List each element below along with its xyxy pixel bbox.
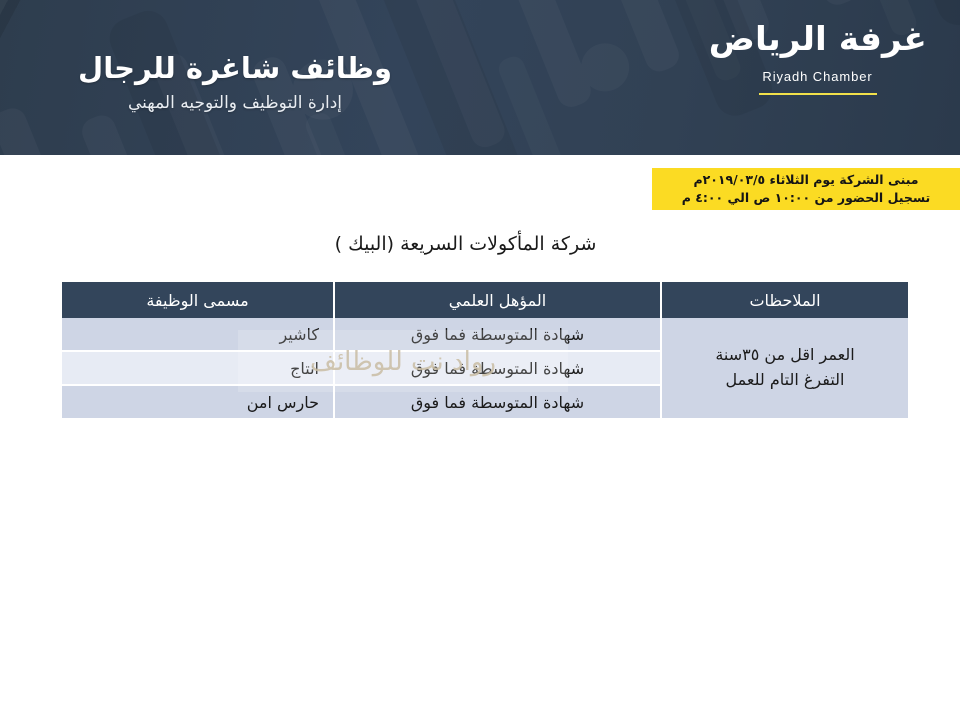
notes-line-age: العمر اقل من ٣٥سنة (662, 343, 908, 368)
column-header-notes: الملاحظات (660, 282, 908, 318)
banner-text-block: وظائف شاغرة للرجال إدارة التوظيف والتوجي… (0, 0, 470, 155)
job-title-cell: كاشير (62, 318, 333, 352)
job-title-cell: انتاج (62, 352, 333, 386)
notice-time-line: تسجيل الحضور من ١٠:٠٠ ص الي ٤:٠٠ م (682, 189, 931, 207)
jobs-table: الملاحظات المؤهل العلمي مسمى الوظيفة الع… (62, 282, 908, 420)
company-name-title: شركة المأكولات السريعة (البيك ) (0, 231, 931, 258)
event-notice-box: مبنى الشركة يوم الثلاثاء ٢٠١٩/٠٣/٥م تسجي… (652, 168, 960, 210)
table-row: العمر اقل من ٣٥سنة التفرغ التام للعمل شه… (62, 318, 908, 352)
qualification-cell: شهادة المتوسطة فما فوق (333, 318, 660, 352)
column-header-qualification: المؤهل العلمي (333, 282, 660, 318)
jobs-table-container: الملاحظات المؤهل العلمي مسمى الوظيفة الع… (62, 282, 908, 420)
table-header-row: الملاحظات المؤهل العلمي مسمى الوظيفة (62, 282, 908, 318)
column-header-job: مسمى الوظيفة (62, 282, 333, 318)
notes-line-commitment: التفرغ التام للعمل (662, 368, 908, 393)
logo-arabic-wordmark: غرفة الرياض (709, 22, 927, 57)
header-banner: وظائف شاغرة للرجال إدارة التوظيف والتوجي… (0, 0, 960, 155)
notes-cell: العمر اقل من ٣٥سنة التفرغ التام للعمل (660, 318, 908, 420)
banner-subtitle: إدارة التوظيف والتوجيه المهني (128, 93, 342, 113)
notice-date-line: مبنى الشركة يوم الثلاثاء ٢٠١٩/٠٣/٥م (693, 171, 918, 189)
qualification-cell: شهادة المتوسطة فما فوق (333, 352, 660, 386)
banner-title: وظائف شاغرة للرجال (78, 50, 392, 86)
logo-underline-rule (759, 93, 877, 95)
riyadh-chamber-logo: غرفة الرياض Riyadh Chamber (710, 22, 925, 132)
logo-english-wordmark: Riyadh Chamber (762, 69, 872, 84)
job-title-cell: حارس امن (62, 386, 333, 420)
qualification-cell: شهادة المتوسطة فما فوق (333, 386, 660, 420)
slide-page: وظائف شاغرة للرجال إدارة التوظيف والتوجي… (0, 0, 960, 720)
